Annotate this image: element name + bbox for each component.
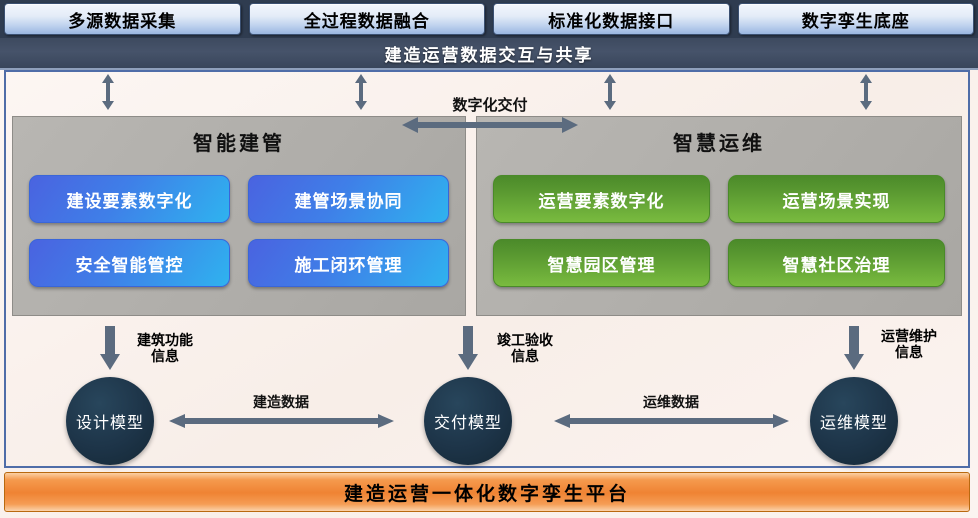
chip-label: 建管场景协同 <box>295 187 403 212</box>
vertical-double-arrow-icon-4 <box>859 74 873 110</box>
vertical-double-arrow-icon-3 <box>603 74 617 110</box>
chip-right-3[interactable]: 智慧园区管理 <box>493 239 710 287</box>
link-double-arrow-icon-2 <box>554 413 789 429</box>
flow-node-delivery-model[interactable]: 交付模型 <box>424 377 512 465</box>
down-arrow-icon-2 <box>458 326 478 370</box>
top-capsule-3[interactable]: 标准化数据接口 <box>493 3 730 35</box>
chip-label: 运营要素数字化 <box>539 187 665 212</box>
link-label-1: 建造数据 <box>201 392 361 412</box>
flow-node-label: 设计模型 <box>76 409 144 433</box>
down-label-line1: 竣工验收 <box>480 332 570 348</box>
down-arrow-icon-3 <box>844 326 864 370</box>
link-double-arrow-icon-1 <box>169 413 394 429</box>
top-capsule-label: 标准化数据接口 <box>548 7 674 32</box>
chip-right-2[interactable]: 运营场景实现 <box>728 175 945 223</box>
chip-label: 施工闭环管理 <box>295 251 403 276</box>
header-title: 建造运营数据交互与共享 <box>385 41 594 66</box>
down-label-line1: 建筑功能 <box>120 332 210 348</box>
flow-node-operation-model[interactable]: 运维模型 <box>810 377 898 465</box>
down-arrow-icon-1 <box>100 326 120 370</box>
chip-label: 安全智能管控 <box>76 251 184 276</box>
down-label-1: 建筑功能 信息 <box>120 332 210 364</box>
footer-title: 建造运营一体化数字孪生平台 <box>344 479 630 506</box>
header-bar: 建造运营数据交互与共享 <box>0 38 978 70</box>
flow-node-design-model[interactable]: 设计模型 <box>66 377 154 465</box>
bridge-label-digital-delivery: 数字化交付 <box>402 94 578 115</box>
panel-left-title: 智能建管 <box>13 127 465 156</box>
down-label-line1: 运营维护 <box>864 328 954 344</box>
top-capsule-label: 全过程数据融合 <box>304 7 430 32</box>
top-capsule-label: 多源数据采集 <box>68 7 176 32</box>
chip-label: 智慧园区管理 <box>548 251 656 276</box>
down-label-3: 运营维护 信息 <box>864 328 954 360</box>
top-capsule-1[interactable]: 多源数据采集 <box>4 3 241 35</box>
chip-left-1[interactable]: 建设要素数字化 <box>29 175 230 223</box>
chip-right-1[interactable]: 运营要素数字化 <box>493 175 710 223</box>
chip-label: 运营场景实现 <box>783 187 891 212</box>
chip-label: 智慧社区治理 <box>783 251 891 276</box>
panel-smart-operations: 智慧运维 运营要素数字化 运营场景实现 智慧园区管理 智慧社区治理 <box>476 116 962 316</box>
main-frame: 智能建管 建设要素数字化 建管场景协同 安全智能管控 施工闭环管理 智慧运维 <box>4 70 970 468</box>
down-label-line2: 信息 <box>480 348 570 364</box>
footer-bar: 建造运营一体化数字孪生平台 <box>4 472 970 512</box>
top-capsule-2[interactable]: 全过程数据融合 <box>249 3 486 35</box>
chip-left-3[interactable]: 安全智能管控 <box>29 239 230 287</box>
top-capsule-label: 数字孪生底座 <box>802 7 910 32</box>
vertical-double-arrow-icon-2 <box>354 74 368 110</box>
panel-right-chip-grid: 运营要素数字化 运营场景实现 智慧园区管理 智慧社区治理 <box>493 175 945 287</box>
vertical-double-arrow-icon-1 <box>101 74 115 110</box>
down-label-2: 竣工验收 信息 <box>480 332 570 364</box>
chip-left-2[interactable]: 建管场景协同 <box>248 175 449 223</box>
panel-left-chip-grid: 建设要素数字化 建管场景协同 安全智能管控 施工闭环管理 <box>29 175 449 287</box>
top-capsule-row: 多源数据采集 全过程数据融合 标准化数据接口 数字孪生底座 <box>0 0 978 38</box>
flow-node-label: 交付模型 <box>434 409 502 433</box>
panel-intelligent-construction: 智能建管 建设要素数字化 建管场景协同 安全智能管控 施工闭环管理 <box>12 116 466 316</box>
diagram-root: 多源数据采集 全过程数据融合 标准化数据接口 数字孪生底座 建造运营数据交互与共… <box>0 0 978 518</box>
link-label-2: 运维数据 <box>591 392 751 412</box>
chip-left-4[interactable]: 施工闭环管理 <box>248 239 449 287</box>
chip-right-4[interactable]: 智慧社区治理 <box>728 239 945 287</box>
top-capsule-4[interactable]: 数字孪生底座 <box>738 3 975 35</box>
flow-node-label: 运维模型 <box>820 409 888 433</box>
down-label-line2: 信息 <box>120 348 210 364</box>
chip-label: 建设要素数字化 <box>67 187 193 212</box>
down-label-line2: 信息 <box>864 344 954 360</box>
bridge-double-arrow-icon <box>402 116 578 134</box>
